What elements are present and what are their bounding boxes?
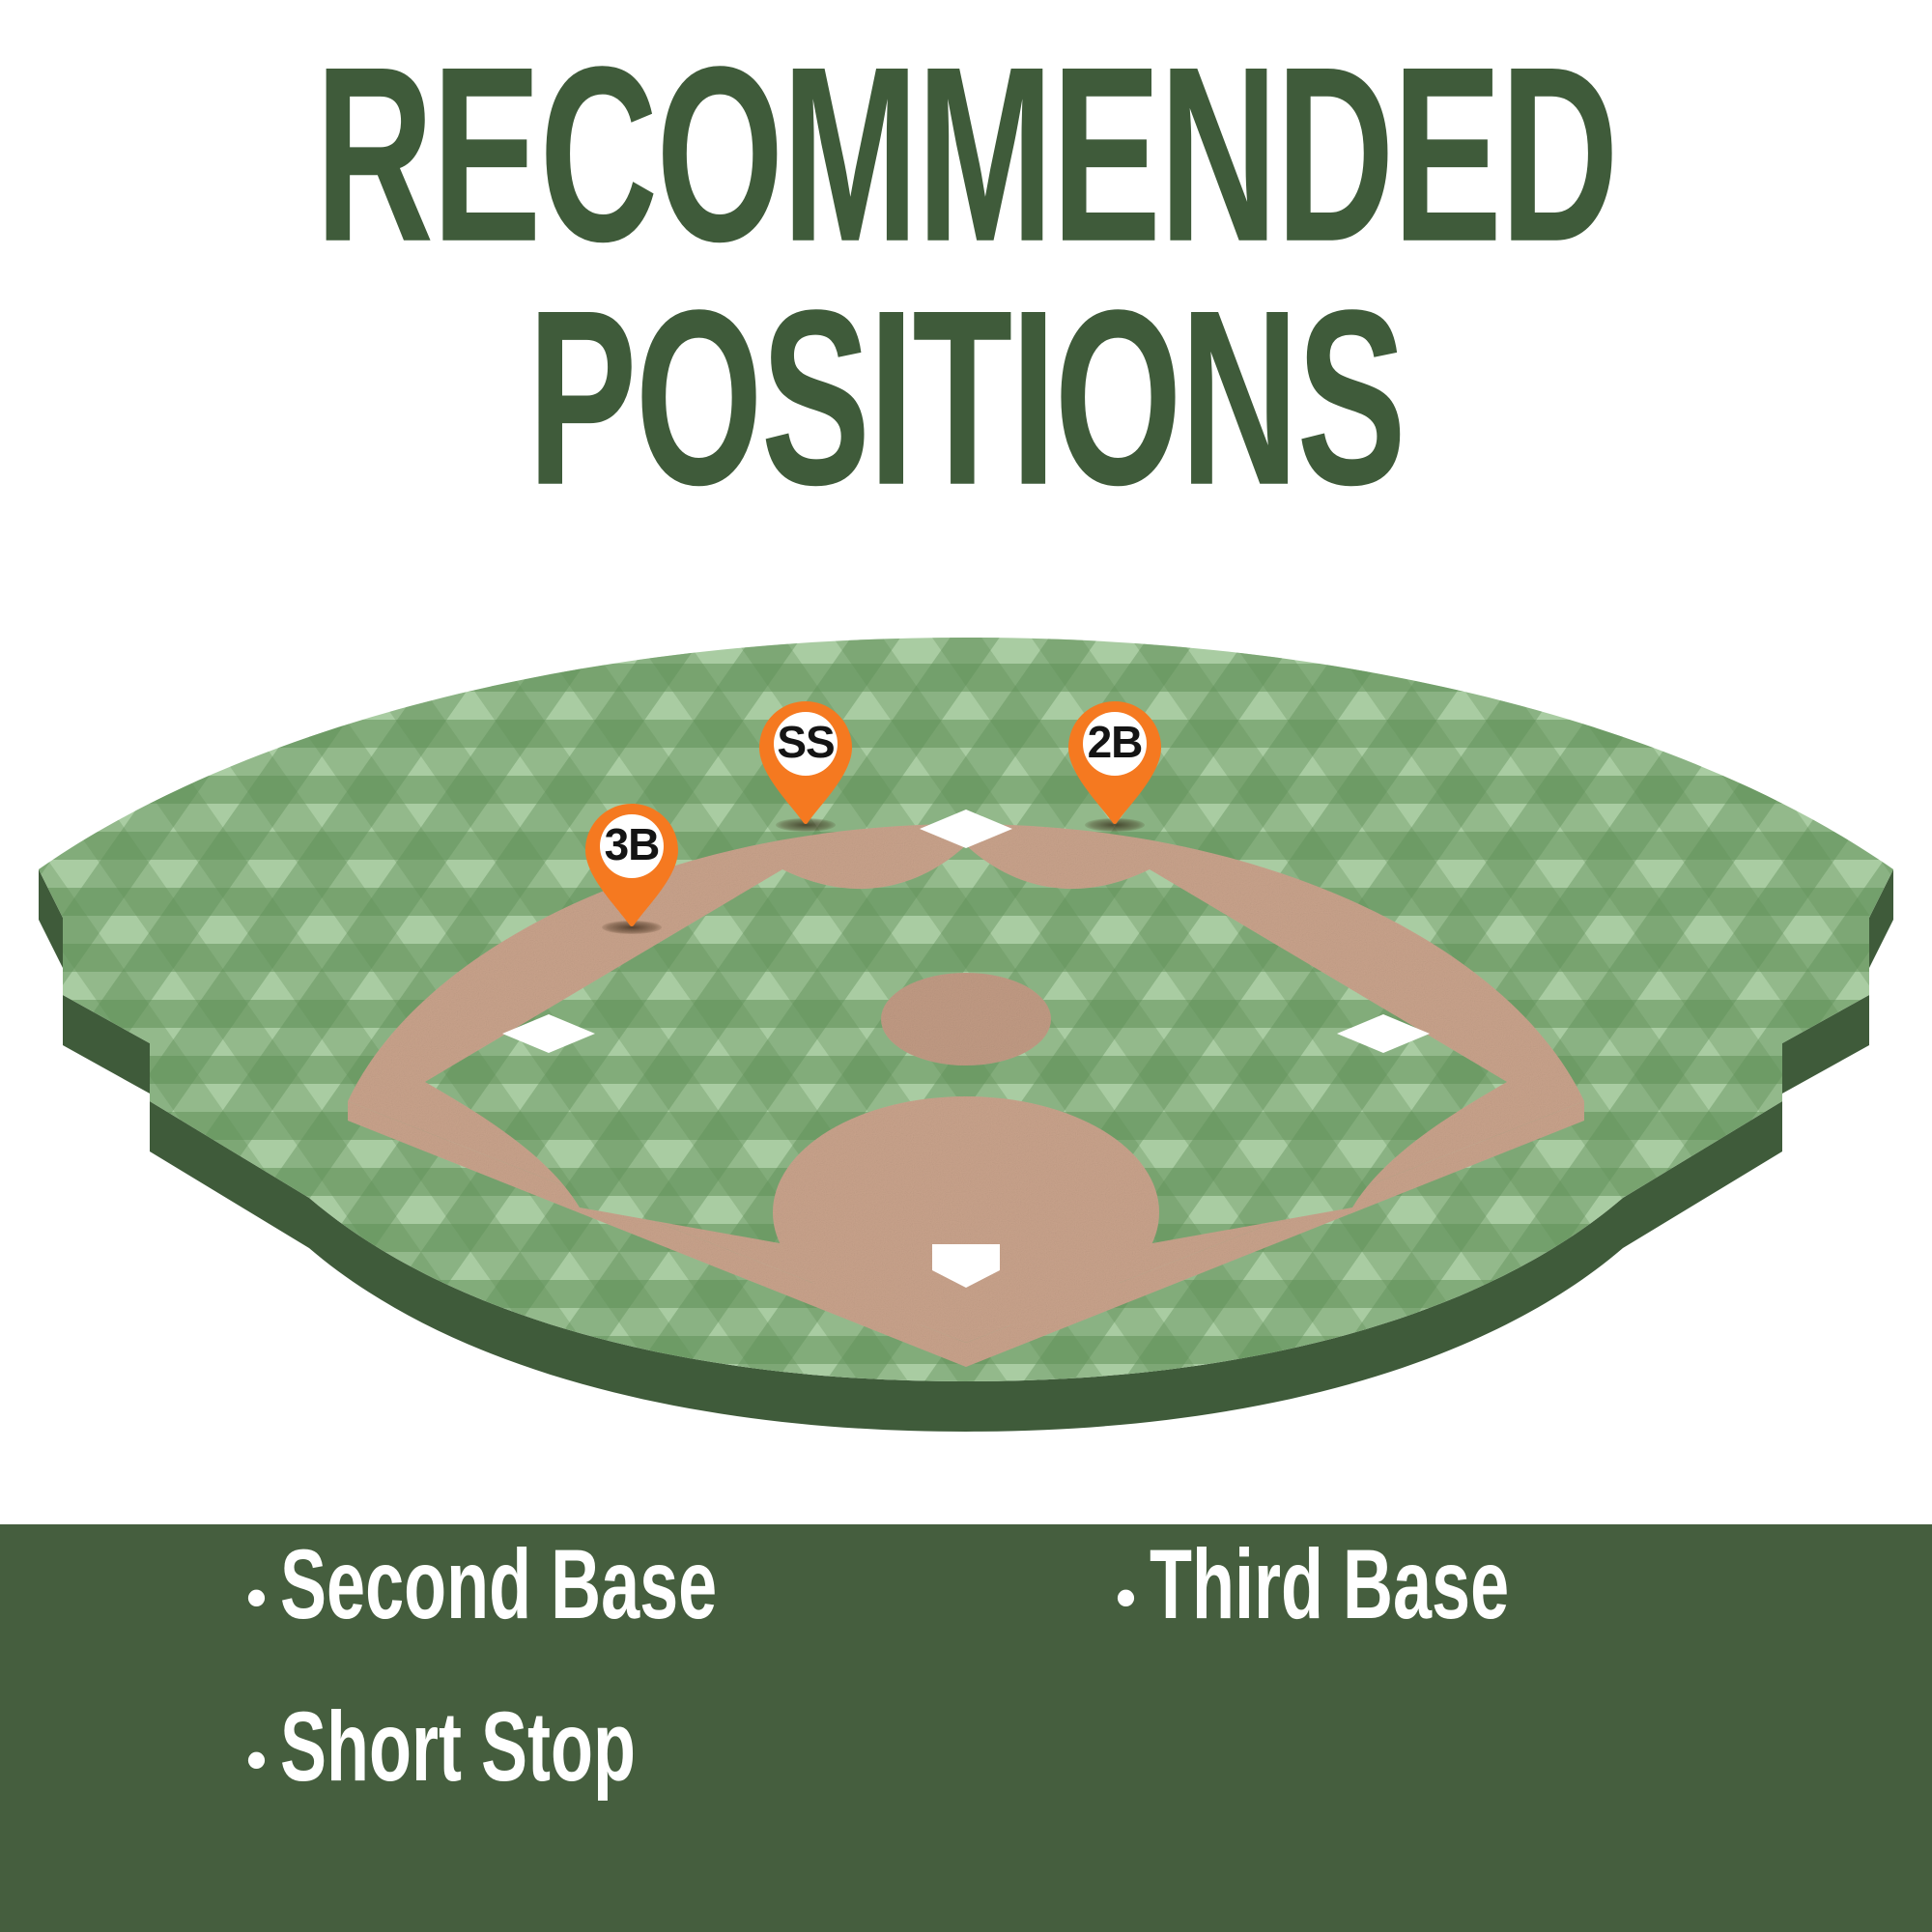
- footer-row-2: • Short Stop: [246, 1727, 1753, 1797]
- list-item-short-stop: • Short Stop: [246, 1727, 1116, 1797]
- pin-label-ss: SS: [759, 709, 852, 775]
- bullet-icon: •: [1116, 1569, 1136, 1627]
- position-marker-shortstop[interactable]: SS: [759, 701, 852, 825]
- footer-list: • Second Base • Third Base • Short Stop: [246, 1565, 1753, 1797]
- page-title: RECOMMENDED POSITIONS: [0, 19, 1932, 436]
- home-plate-dirt-circle: [773, 1096, 1159, 1328]
- footer-col-left-2: • Short Stop: [246, 1727, 1116, 1797]
- list-item-second-base: • Second Base: [246, 1565, 1116, 1634]
- bullet-icon: •: [246, 1569, 267, 1627]
- page-title-line-1: RECOMMENDED: [0, 41, 1932, 270]
- page-title-line-2: POSITIONS: [0, 284, 1932, 514]
- position-marker-third-base[interactable]: 3B: [585, 804, 678, 927]
- list-item-label: Short Stop: [280, 1698, 636, 1797]
- recommended-positions-footer: • Second Base • Third Base • Short Stop: [0, 1524, 1932, 1932]
- pitchers-mound: [881, 973, 1051, 1065]
- position-marker-second-base[interactable]: 2B: [1068, 701, 1161, 825]
- bullet-icon: •: [246, 1731, 267, 1789]
- footer-row-1: • Second Base • Third Base: [246, 1565, 1753, 1634]
- pin-label-2b: 2B: [1068, 709, 1161, 775]
- pin-label-3b: 3B: [585, 811, 678, 877]
- list-item-third-base: • Third Base: [1116, 1565, 1753, 1634]
- list-item-label: Second Base: [280, 1536, 717, 1634]
- list-item-label: Third Base: [1150, 1536, 1509, 1634]
- footer-col-right-1: • Third Base: [1116, 1565, 1753, 1634]
- baseball-field-diagram: [0, 580, 1932, 1449]
- footer-col-left-1: • Second Base: [246, 1565, 1116, 1634]
